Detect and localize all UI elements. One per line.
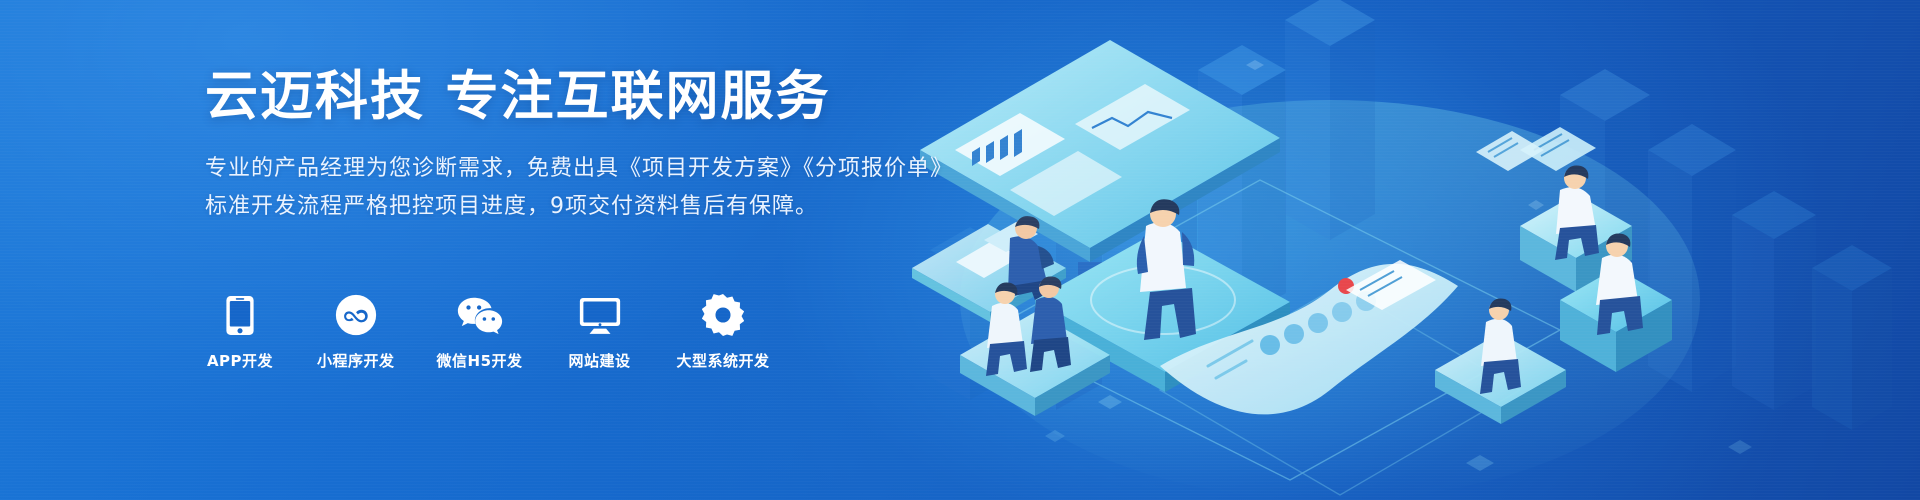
isometric-illustration [860, 0, 1920, 500]
hero-subtitle: 专业的产品经理为您诊断需求，免费出具《项目开发方案》《分项报价单》 标准开发流程… [205, 150, 953, 227]
mobile-phone-icon [217, 292, 263, 338]
service-list: APP开发 小程序开发 微信 [205, 292, 770, 371]
service-label: APP开发 [207, 350, 273, 371]
hero-copy: 云迈科技 专注互联网服务 专业的产品经理为您诊断需求，免费出具《项目开发方案》《… [205, 66, 953, 227]
service-label: 网站建设 [569, 350, 631, 371]
service-label: 小程序开发 [317, 350, 395, 371]
gear-icon [700, 292, 746, 338]
service-item-large-system[interactable]: 大型系统开发 [677, 292, 770, 371]
wechat-icon [457, 292, 503, 338]
service-item-website[interactable]: 网站建设 [565, 292, 635, 371]
service-label: 微信H5开发 [437, 350, 523, 371]
service-label: 大型系统开发 [677, 350, 770, 371]
service-item-app[interactable]: APP开发 [205, 292, 275, 371]
service-item-wechat-h5[interactable]: 微信H5开发 [437, 292, 523, 371]
subtitle-line-2: 标准开发流程严格把控项目进度，9项交付资料售后有保障。 [205, 188, 953, 227]
service-item-mini-program[interactable]: 小程序开发 [317, 292, 395, 371]
mini-program-icon [333, 292, 379, 338]
monitor-icon [577, 292, 623, 338]
hero-banner: 云迈科技 专注互联网服务 专业的产品经理为您诊断需求，免费出具《项目开发方案》《… [0, 0, 1920, 500]
page-title: 云迈科技 专注互联网服务 [205, 66, 953, 129]
subtitle-line-1: 专业的产品经理为您诊断需求，免费出具《项目开发方案》《分项报价单》 [205, 150, 953, 189]
